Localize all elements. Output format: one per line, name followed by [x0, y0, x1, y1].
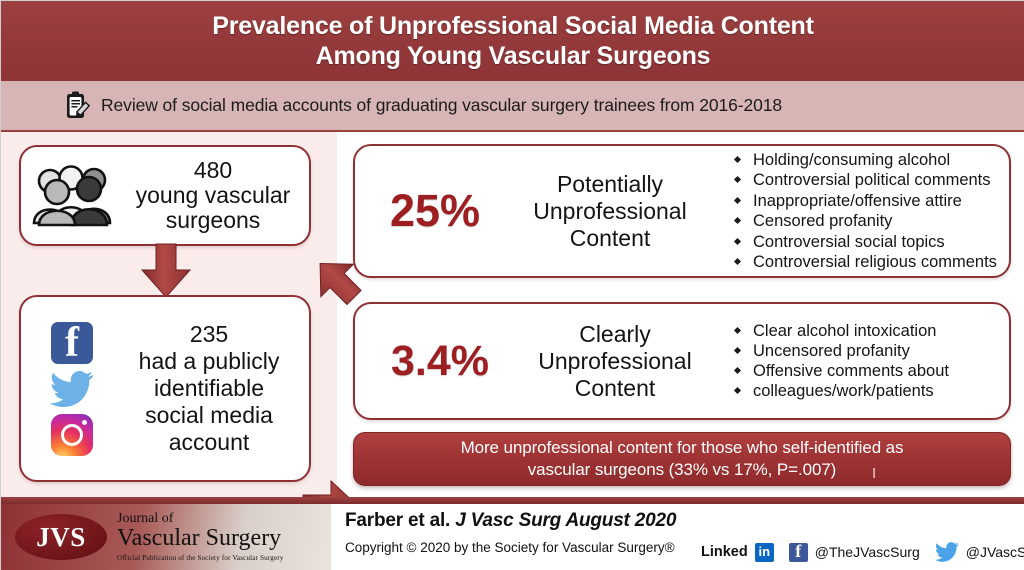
list-item-continuation: colleagues/work/patients [731, 381, 1009, 401]
clipboard-pencil-icon [65, 91, 91, 121]
citation-line: Farber et al. J Vasc Surg August 2020 [345, 510, 676, 532]
jvs-oval-mark: JVS [15, 514, 107, 560]
poster-footer: JVS Journal of Vascular Surgery Official… [1, 504, 1024, 570]
accounts-line4: social media [115, 402, 303, 429]
list-item: Inappropriate/offensive attire [731, 191, 1009, 212]
infographic-poster: Prevalence of Unprofessional Social Medi… [0, 0, 1024, 570]
accounts-text: 235 had a publicly identifiable social m… [115, 321, 309, 456]
citation-block: Farber et al. J Vasc Surg August 2020 Co… [345, 510, 676, 555]
finding-label-34-line2: Unprofessional [525, 348, 705, 375]
facebook-icon [51, 322, 93, 364]
journal-logo: JVS Journal of Vascular Surgery Official… [1, 504, 331, 570]
poster-header: Prevalence of Unprofessional Social Medi… [1, 1, 1024, 81]
citation-authors: Farber et al. [345, 510, 455, 531]
journal-name: Journal of Vascular Surgery Official Pub… [117, 511, 284, 563]
finding-label-34-line3: Content [525, 375, 705, 402]
list-item: Offensive comments about [731, 361, 1009, 381]
twitter-icon[interactable] [935, 542, 959, 562]
subtitle-band: Review of social media accounts of gradu… [1, 81, 1024, 132]
finding-card-clearly-unprofessional: 3.4% Clearly Unprofessional Content Clea… [353, 302, 1011, 420]
linkedin-icon[interactable] [755, 543, 774, 562]
copyright-text: Copyright © 2020 by the Society for Vasc… [345, 540, 676, 555]
content-area: 480 young vascular surgeons [1, 132, 1024, 497]
cohort-line2: young vascular [125, 183, 301, 208]
accounts-card: 235 had a publicly identifiable social m… [19, 295, 311, 482]
finding-label-34-line1: Clearly [525, 321, 705, 348]
cohort-count: 480 [125, 158, 301, 183]
social-handles: Linked @TheJVascSurg @JVascSurg [701, 542, 1024, 562]
jvs-mark-text: JVS [36, 522, 86, 553]
finding-bullets-25: Holding/consuming alcohol Controversial … [705, 150, 1009, 273]
facebook-icon[interactable] [789, 543, 808, 562]
key-finding-banner: More unprofessional content for those wh… [353, 432, 1011, 486]
poster-title-line2: Among Young Vascular Surgeons [316, 41, 711, 71]
list-item: Censored profanity [731, 211, 1009, 232]
finding-label-25-line3: Content [515, 225, 705, 252]
finding-label-25-line1: Potentially [515, 171, 705, 198]
accounts-line5: account [115, 429, 303, 456]
twitter-handle[interactable]: @JVascSurg [966, 544, 1024, 560]
list-item: Clear alcohol intoxication [731, 321, 1009, 341]
instagram-icon [51, 414, 93, 456]
cohort-text: 480 young vascular surgeons [125, 158, 309, 233]
finding-label-25: Potentially Unprofessional Content [515, 171, 705, 252]
group-of-people-icon [21, 165, 125, 227]
banner-line2: vascular surgeons (33% vs 17%, P=.007) [528, 459, 837, 481]
banner-line1: More unprofessional content for those wh… [461, 437, 904, 459]
finding-percent-25: 25% [355, 185, 515, 237]
accounts-line3: identifiable [115, 375, 303, 402]
finding-label-34: Clearly Unprofessional Content [525, 321, 705, 402]
social-logo-stack [21, 322, 115, 456]
linkedin-label[interactable]: Linked [701, 544, 748, 560]
cohort-line3: surgeons [125, 208, 301, 233]
accounts-line2: had a publicly [115, 348, 303, 375]
text-cursor: I [872, 466, 873, 481]
journal-tagline: Official Publication of the Society for … [117, 553, 284, 563]
footer-divider [1, 497, 1024, 504]
poster-title-line1: Prevalence of Unprofessional Social Medi… [212, 11, 813, 41]
cohort-card: 480 young vascular surgeons [19, 145, 311, 246]
twitter-icon [49, 370, 95, 408]
accounts-count: 235 [115, 321, 303, 348]
finding-card-potentially-unprofessional: 25% Potentially Unprofessional Content H… [353, 144, 1011, 278]
finding-bullets-34: Clear alcohol intoxication Uncensored pr… [705, 321, 1009, 401]
journal-name-line1: Journal of [117, 511, 284, 526]
list-item: Controversial religious comments [731, 252, 1009, 273]
subtitle-text: Review of social media accounts of gradu… [101, 95, 782, 116]
list-item: Uncensored profanity [731, 341, 1009, 361]
list-item: Holding/consuming alcohol [731, 150, 1009, 171]
list-item: Controversial social topics [731, 232, 1009, 253]
journal-name-line2: Vascular Surgery [117, 526, 284, 551]
finding-percent-34: 3.4% [355, 337, 525, 386]
citation-journal: J Vasc Surg August 2020 [455, 510, 676, 531]
facebook-handle[interactable]: @TheJVascSurg [815, 544, 920, 560]
list-item: Controversial political comments [731, 170, 1009, 191]
finding-label-25-line2: Unprofessional [515, 198, 705, 225]
down-arrow [136, 242, 196, 300]
